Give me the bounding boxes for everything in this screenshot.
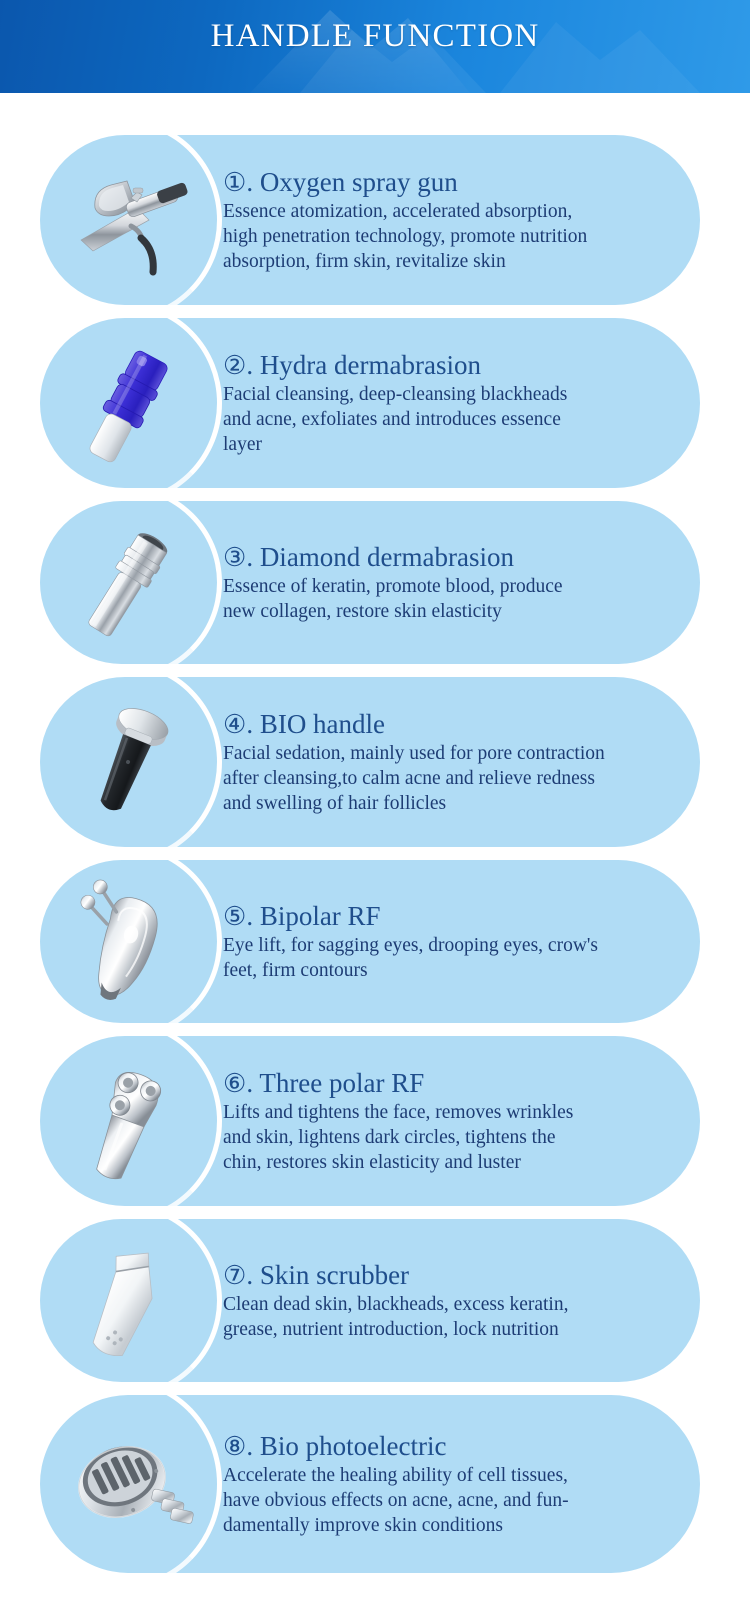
desc-line: Lifts and tightens the face, removes wri… <box>223 1101 666 1126</box>
list-item[interactable]: ①. Oxygen spray gun Essence atomization,… <box>40 135 700 305</box>
item-dot: . <box>246 901 253 931</box>
list-item[interactable]: ⑦. Skin scrubber Clean dead skin, blackh… <box>40 1219 700 1382</box>
item-number: ③ <box>223 543 246 572</box>
item-title: ⑦. Skin scrubber <box>223 1260 666 1290</box>
three-polar-rf-handle-icon <box>53 1055 203 1187</box>
bio-photoelectric-head-icon <box>53 1418 203 1550</box>
item-title: ⑥. Three polar RF <box>223 1068 666 1098</box>
desc-line: Facial cleansing, deep-cleansing blackhe… <box>223 383 666 408</box>
skin-scrubber-spatula-icon <box>53 1235 203 1367</box>
item-description: Lifts and tightens the face, removes wri… <box>223 1101 666 1175</box>
item-media <box>40 135 215 305</box>
item-dot: . <box>246 1068 253 1098</box>
item-dot: . <box>246 167 253 197</box>
item-number: ⑥ <box>223 1069 246 1098</box>
item-title: ①. Oxygen spray gun <box>223 167 666 197</box>
item-content: ⑧. Bio photoelectric Accelerate the heal… <box>215 1395 700 1573</box>
desc-line: grease, nutrient introduction, lock nutr… <box>223 1318 666 1343</box>
desc-line: and swelling of hair follicles <box>223 792 666 817</box>
desc-line: and skin, lightens dark circles, tighten… <box>223 1126 666 1151</box>
item-content: ⑤. Bipolar RF Eye lift, for sagging eyes… <box>215 860 700 1023</box>
item-content: ②. Hydra dermabrasion Facial cleansing, … <box>215 318 700 488</box>
item-number: ① <box>223 168 246 197</box>
item-dot: . <box>246 709 253 739</box>
desc-line: Facial sedation, mainly used for pore co… <box>223 742 666 767</box>
item-title-text: Skin scrubber <box>260 1260 409 1290</box>
item-title-text: Bio photoelectric <box>260 1431 447 1461</box>
item-dot: . <box>246 1260 253 1290</box>
list-item[interactable]: ④. BIO handle Facial sedation, mainly us… <box>40 677 700 847</box>
item-number: ⑦ <box>223 1261 246 1290</box>
oxygen-spray-gun-icon <box>53 154 203 286</box>
item-title-text: BIO handle <box>260 709 385 739</box>
desc-line: high penetration technology, promote nut… <box>223 225 666 250</box>
item-title-text: Three polar RF <box>259 1068 424 1098</box>
item-dot: . <box>246 350 253 380</box>
list-item[interactable]: ⑧. Bio photoelectric Accelerate the heal… <box>40 1395 700 1573</box>
desc-line: absorption, firm skin, revitalize skin <box>223 250 666 275</box>
desc-line: damentally improve skin conditions <box>223 1514 666 1539</box>
item-content: ④. BIO handle Facial sedation, mainly us… <box>215 677 700 847</box>
item-title: ③. Diamond dermabrasion <box>223 542 666 572</box>
bio-handle-icon <box>53 696 203 828</box>
item-title: ②. Hydra dermabrasion <box>223 350 666 380</box>
item-description: Essence atomization, accelerated absorpt… <box>223 200 666 274</box>
desc-line: Clean dead skin, blackheads, excess kera… <box>223 1293 666 1318</box>
desc-line: new collagen, restore skin elasticity <box>223 600 666 625</box>
desc-line: after cleansing,to calm acne and relieve… <box>223 767 666 792</box>
item-description: Facial sedation, mainly used for pore co… <box>223 742 666 816</box>
item-title-text: Diamond dermabrasion <box>260 542 514 572</box>
item-description: Facial cleansing, deep-cleansing blackhe… <box>223 383 666 457</box>
desc-line: Essence atomization, accelerated absorpt… <box>223 200 666 225</box>
item-number: ④ <box>223 710 246 739</box>
list-item[interactable]: ⑤. Bipolar RF Eye lift, for sagging eyes… <box>40 860 700 1023</box>
item-media <box>40 1395 215 1573</box>
desc-line: layer <box>223 433 666 458</box>
item-title: ④. BIO handle <box>223 709 666 739</box>
item-media <box>40 501 215 664</box>
item-title-text: Bipolar RF <box>260 901 381 931</box>
item-title: ⑤. Bipolar RF <box>223 901 666 931</box>
desc-line: Accelerate the healing ability of cell t… <box>223 1464 666 1489</box>
item-content: ③. Diamond dermabrasion Essence of kerat… <box>215 501 700 664</box>
item-description: Clean dead skin, blackheads, excess kera… <box>223 1293 666 1343</box>
desc-line: and acne, exfoliates and introduces esse… <box>223 408 666 433</box>
item-number: ⑧ <box>223 1432 246 1461</box>
handle-function-list: ①. Oxygen spray gun Essence atomization,… <box>0 93 750 1573</box>
list-item[interactable]: ⑥. Three polar RF Lifts and tightens the… <box>40 1036 700 1206</box>
item-media <box>40 860 215 1023</box>
item-dot: . <box>246 1431 253 1461</box>
item-number: ⑤ <box>223 902 246 931</box>
desc-line: Eye lift, for sagging eyes, drooping eye… <box>223 934 666 959</box>
item-description: Essence of keratin, promote blood, produ… <box>223 575 666 625</box>
item-media <box>40 1219 215 1382</box>
item-media <box>40 318 215 488</box>
desc-line: chin, restores skin elasticity and luste… <box>223 1151 666 1176</box>
item-media <box>40 677 215 847</box>
item-dot: . <box>246 542 253 572</box>
item-title: ⑧. Bio photoelectric <box>223 1431 666 1461</box>
desc-line: feet, firm contours <box>223 959 666 984</box>
item-content: ⑦. Skin scrubber Clean dead skin, blackh… <box>215 1219 700 1382</box>
item-description: Accelerate the healing ability of cell t… <box>223 1464 666 1538</box>
item-content: ①. Oxygen spray gun Essence atomization,… <box>215 135 700 305</box>
item-number: ② <box>223 351 246 380</box>
item-media <box>40 1036 215 1206</box>
item-title-text: Oxygen spray gun <box>260 167 458 197</box>
desc-line: have obvious effects on acne, acne, and … <box>223 1489 666 1514</box>
desc-line: Essence of keratin, promote blood, produ… <box>223 575 666 600</box>
page-title: HANDLE FUNCTION <box>0 18 750 55</box>
page-header: HANDLE FUNCTION <box>0 0 750 93</box>
bipolar-rf-handle-icon <box>53 876 203 1008</box>
list-item[interactable]: ③. Diamond dermabrasion Essence of kerat… <box>40 501 700 664</box>
hydra-dermabrasion-tip-icon <box>53 337 203 469</box>
item-content: ⑥. Three polar RF Lifts and tightens the… <box>215 1036 700 1206</box>
diamond-dermabrasion-wand-icon <box>53 517 203 649</box>
item-title-text: Hydra dermabrasion <box>260 350 481 380</box>
item-description: Eye lift, for sagging eyes, drooping eye… <box>223 934 666 984</box>
list-item[interactable]: ②. Hydra dermabrasion Facial cleansing, … <box>40 318 700 488</box>
